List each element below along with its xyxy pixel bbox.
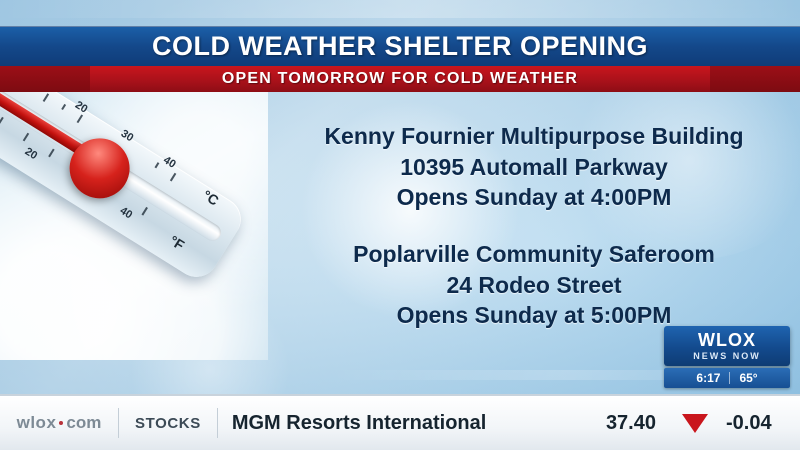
ticker-price: 37.40	[606, 412, 656, 435]
shelter-info: Kenny Fournier Multipurpose Building 103…	[268, 92, 800, 360]
ticker-brand-name: wlox	[17, 413, 57, 433]
subhead-text: OPEN TOMORROW FOR COLD WEATHER	[222, 70, 578, 88]
ticker-category: STOCKS	[119, 415, 217, 432]
arrow-down-icon	[682, 414, 708, 433]
shelter-address: 24 Rodeo Street	[282, 270, 786, 301]
stock-ticker: wlox com STOCKS MGM Resorts Internationa…	[0, 394, 800, 450]
ticker-item-name: MGM Resorts International	[218, 412, 486, 435]
station-logo-tagline: NEWS NOW	[693, 351, 761, 361]
station-logo-name: WLOX	[698, 331, 756, 349]
ticker-brand-tld: com	[66, 413, 101, 433]
headline-bar: COLD WEATHER SHELTER OPENING	[0, 26, 800, 66]
current-time: 6:17	[696, 371, 720, 385]
current-temperature: 65°	[739, 371, 757, 385]
subhead-bar: OPEN TOMORROW FOR COLD WEATHER	[0, 66, 800, 92]
shelter-hours: Opens Sunday at 4:00PM	[282, 182, 786, 213]
ticker-brand[interactable]: wlox com	[0, 413, 118, 433]
thermometer-photo: 0 10 20 30 40 20 40 °C °F	[0, 92, 268, 360]
clock-bug: 6:17 65°	[664, 368, 790, 388]
broadcast-graphic: COLD WEATHER SHELTER OPENING OPEN TOMORR…	[0, 0, 800, 450]
headline-text: COLD WEATHER SHELTER OPENING	[152, 31, 648, 62]
ticker-change: -0.04	[726, 412, 800, 435]
shelter-entry: Poplarville Community Saferoom 24 Rodeo …	[282, 239, 786, 331]
clock-divider	[729, 372, 730, 384]
shelter-name: Poplarville Community Saferoom	[282, 239, 786, 270]
shelter-name: Kenny Fournier Multipurpose Building	[282, 121, 786, 152]
shelter-entry: Kenny Fournier Multipurpose Building 103…	[282, 121, 786, 213]
banner: COLD WEATHER SHELTER OPENING OPEN TOMORR…	[0, 26, 800, 92]
background-streak-1	[0, 0, 800, 18]
station-logo: WLOX NEWS NOW	[664, 326, 790, 366]
shelter-address: 10395 Automall Parkway	[282, 152, 786, 183]
ticker-brand-dot-icon	[59, 421, 63, 425]
